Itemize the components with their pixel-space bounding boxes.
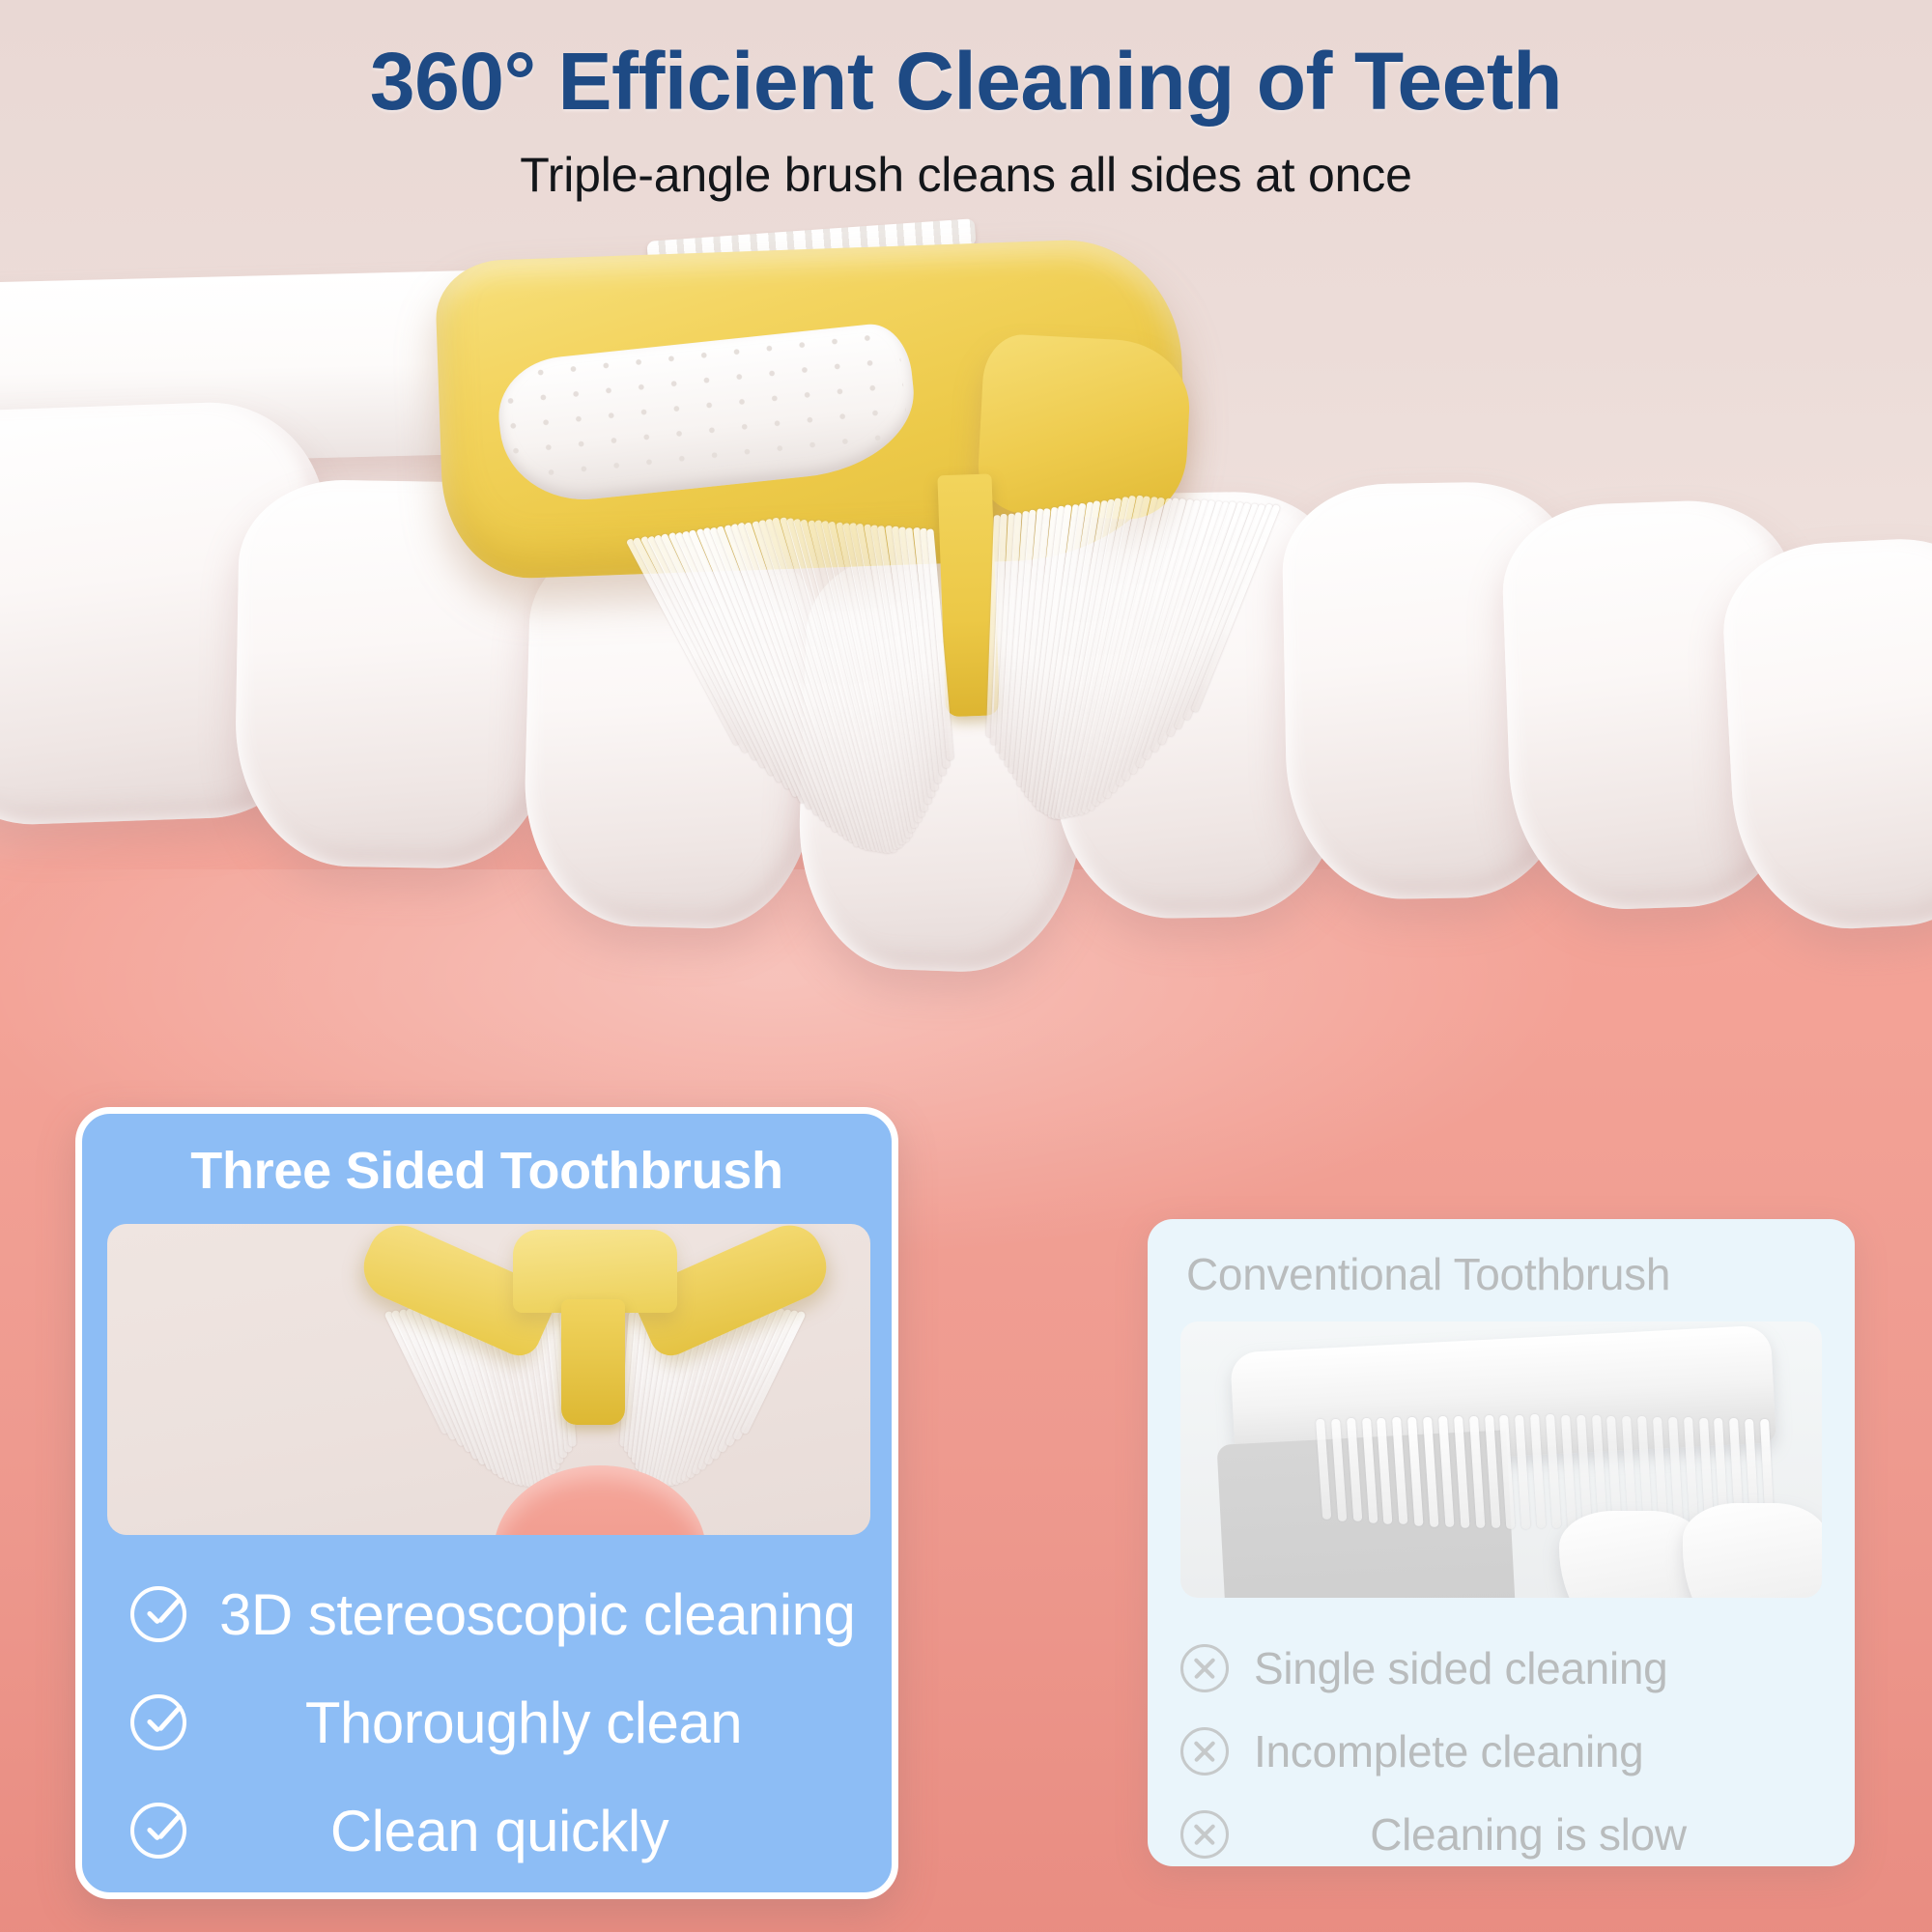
list-item: Incomplete cleaning — [1180, 1710, 1822, 1793]
check-circle-icon — [130, 1586, 186, 1642]
list-item: Cleaning is slow — [1180, 1793, 1822, 1876]
brush-grip-pad — [493, 321, 921, 508]
cross-circle-icon — [1180, 1644, 1229, 1692]
list-item-label: Incomplete cleaning — [1254, 1725, 1822, 1777]
page-title: 360° Efficient Cleaning of Teeth — [0, 35, 1932, 128]
check-circle-icon — [130, 1694, 186, 1750]
product-infographic: Conventional Toothbrush Single sided cle… — [0, 0, 1932, 1932]
list-item: Clean quickly — [107, 1776, 867, 1885]
list-item-label: Cleaning is slow — [1254, 1808, 1822, 1861]
three-sided-benefit-list: 3D stereoscopic cleaning Thoroughly clea… — [107, 1560, 867, 1885]
conventional-toothbrush-photo — [1180, 1321, 1822, 1598]
brush-center-spine — [561, 1299, 625, 1425]
page-subtitle: Triple-angle brush cleans all sides at o… — [0, 147, 1932, 203]
conventional-drawback-list: Single sided cleaning Incomplete cleanin… — [1180, 1627, 1822, 1876]
list-item-label: Single sided cleaning — [1254, 1642, 1822, 1694]
check-circle-icon — [130, 1803, 186, 1859]
brush-bristles — [608, 500, 1295, 871]
hero-toothbrush — [440, 222, 1203, 763]
brush-neck — [976, 333, 1192, 523]
cross-circle-icon — [1180, 1810, 1229, 1859]
list-item: Single sided cleaning — [1180, 1627, 1822, 1710]
three-sided-card-title: Three Sided Toothbrush — [107, 1141, 867, 1201]
cross-circle-icon — [1180, 1727, 1229, 1776]
list-item: Thoroughly clean — [107, 1668, 867, 1776]
conventional-card-title: Conventional Toothbrush — [1186, 1248, 1822, 1300]
list-item-label: 3D stereoscopic cleaning — [219, 1581, 867, 1648]
list-item: 3D stereoscopic cleaning — [107, 1560, 867, 1668]
tooth — [1683, 1503, 1822, 1598]
list-item-label: Thoroughly clean — [219, 1690, 867, 1756]
list-item-label: Clean quickly — [219, 1798, 867, 1864]
three-sided-toothbrush-card: Three Sided Toothbrush 3D stereoscopic c… — [75, 1107, 898, 1899]
three-sided-toothbrush-photo — [107, 1224, 870, 1535]
conventional-toothbrush-card: Conventional Toothbrush Single sided cle… — [1148, 1219, 1855, 1866]
